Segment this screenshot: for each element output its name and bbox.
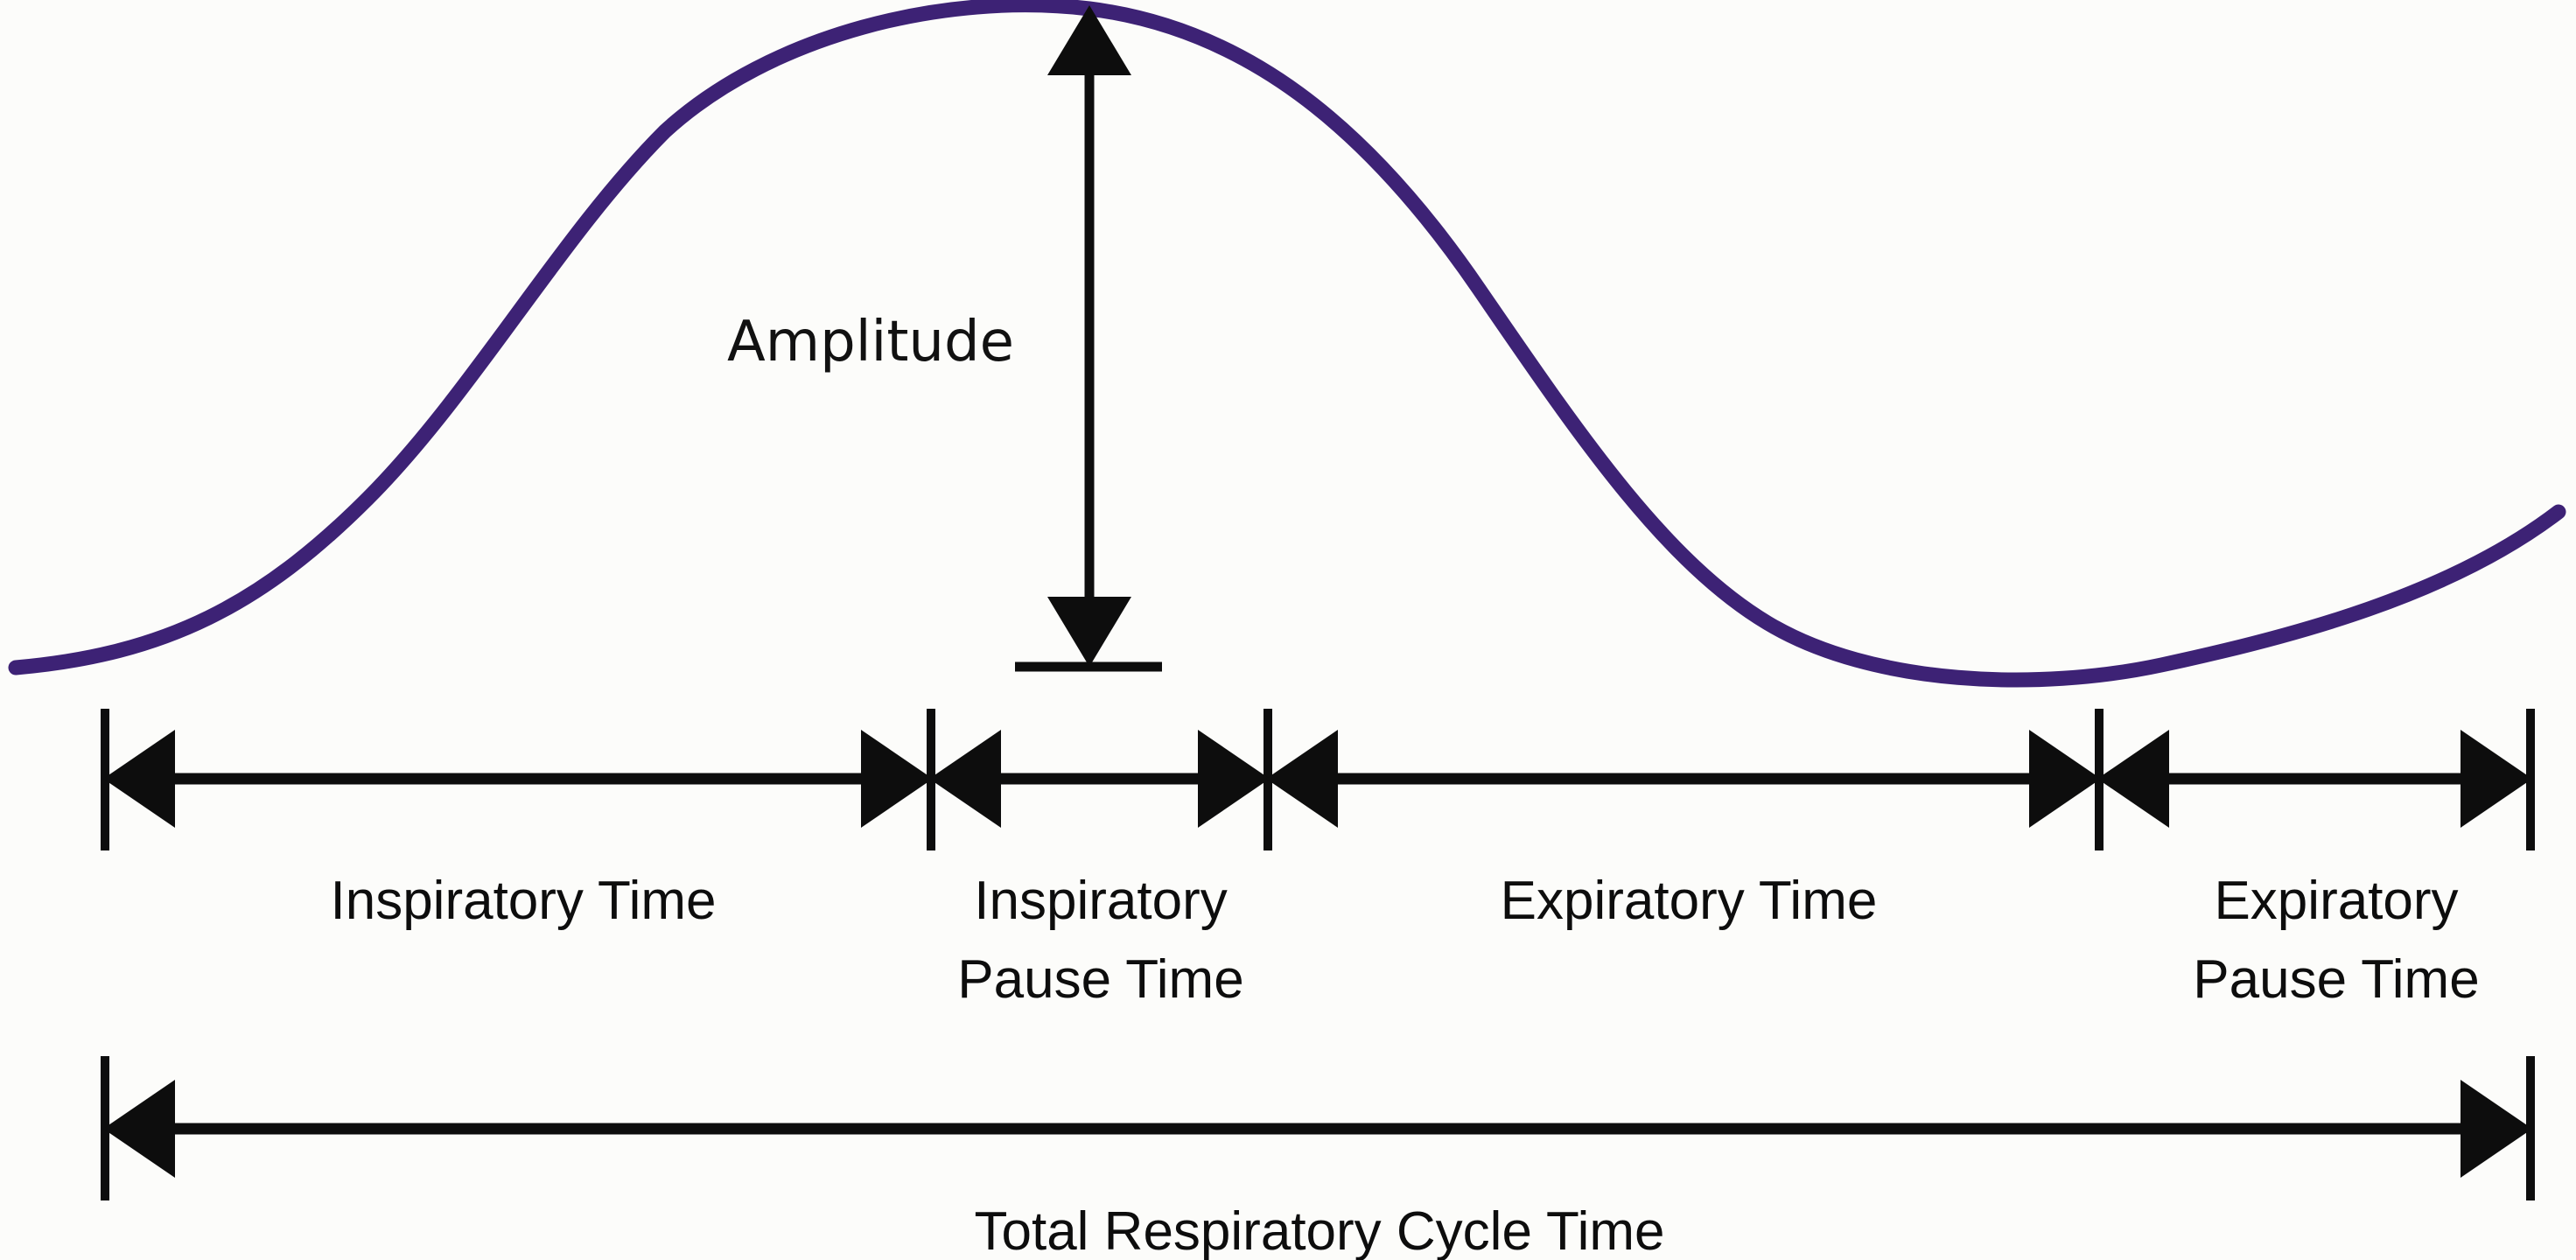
expiratory-pause-time-label-line2: Pause Time bbox=[2193, 949, 2479, 1010]
expiratory-time-label: Expiratory Time bbox=[1501, 871, 1878, 931]
inspiratory-time-label: Inspiratory Time bbox=[330, 871, 716, 931]
total-cycle-time-label: Total Respiratory Cycle Time bbox=[974, 1201, 1664, 1260]
background bbox=[0, 0, 2576, 1260]
diagram-canvas: Amplitude Inspiratory Time Inspiratory P… bbox=[0, 0, 2576, 1260]
inspiratory-pause-time-label-line2: Pause Time bbox=[957, 949, 1243, 1010]
amplitude-label: Amplitude bbox=[727, 310, 1014, 374]
expiratory-pause-time-label-line1: Expiratory bbox=[2214, 871, 2458, 931]
inspiratory-pause-time-label-line1: Inspiratory bbox=[974, 871, 1227, 931]
respiratory-cycle-diagram: Amplitude Inspiratory Time Inspiratory P… bbox=[0, 0, 2576, 1260]
